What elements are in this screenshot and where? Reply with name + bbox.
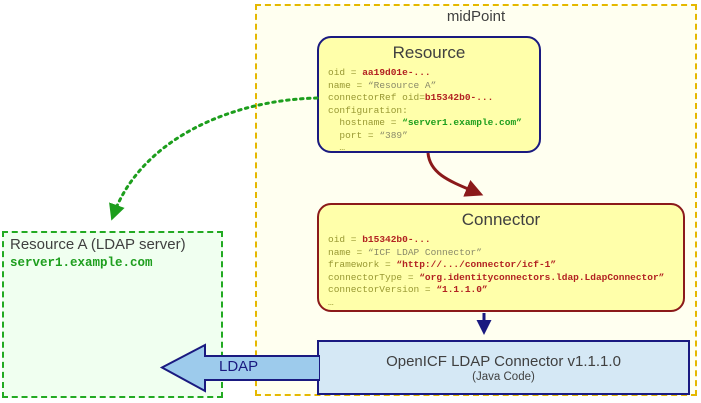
connector-box-properties: oid = b15342b0-...name = “ICF LDAP Conne…	[328, 234, 683, 309]
resource-a-title: Resource A (LDAP server)	[10, 236, 186, 253]
resource-box-title: Resource	[319, 43, 539, 63]
openicf-title: OpenICF LDAP Connector v1.1.1.0	[386, 353, 621, 370]
diagram-canvas: midPoint Resource A (LDAP server) server…	[0, 0, 701, 403]
resource-object-box: Resource oid = aa19d01e-...name = “Resou…	[317, 36, 541, 153]
connector-box-title: Connector	[319, 210, 683, 230]
openicf-connector-bar: OpenICF LDAP Connector v1.1.1.0 (Java Co…	[317, 340, 690, 395]
ldap-arrow-label: LDAP	[219, 358, 258, 375]
connector-object-box: Connector oid = b15342b0-...name = “ICF …	[317, 203, 685, 312]
midpoint-label: midPoint	[255, 8, 697, 25]
resource-box-properties: oid = aa19d01e-...name = “Resource A”con…	[328, 67, 539, 155]
resource-a-hostname: server1.example.com	[10, 256, 153, 270]
openicf-subtitle: (Java Code)	[472, 371, 535, 383]
